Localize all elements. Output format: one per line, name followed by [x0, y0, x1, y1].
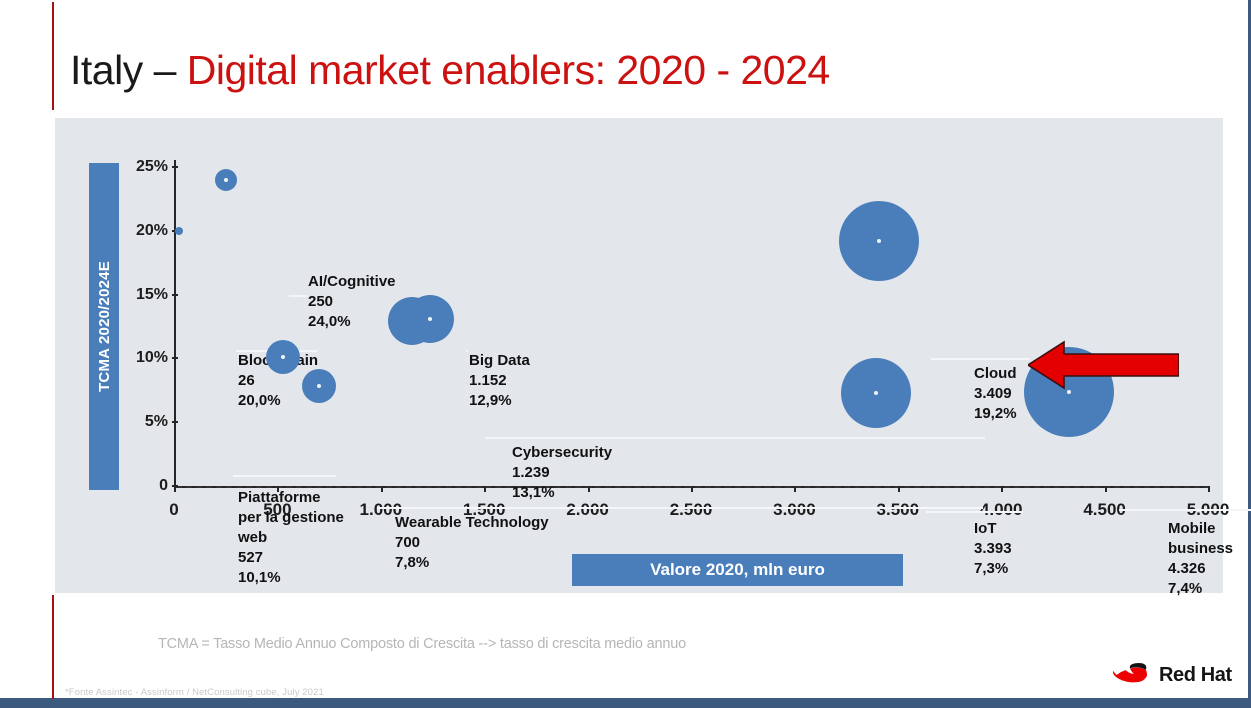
bubble-leader-line	[926, 511, 1023, 513]
tcma-definition-note: TCMA = Tasso Medio Annuo Composto di Cre…	[158, 636, 686, 652]
bubble-label: Big Data 1.152 12,9%	[469, 351, 530, 411]
y-tick-label: 20%	[122, 222, 168, 240]
y-axis-line	[174, 160, 176, 488]
bubble-label: AI/Cognitive 250 24,0%	[308, 272, 396, 332]
bubble-center-dot	[877, 239, 881, 243]
page-title: Italy – Digital market enablers: 2020 - …	[70, 44, 830, 96]
slide-canvas: Italy – Digital market enablers: 2020 - …	[0, 0, 1251, 708]
y-axis-title-bar: TCMA 2020/2024E	[89, 163, 119, 490]
x-tick-mark	[1208, 486, 1210, 492]
source-note: *Fonte Assintec - Assinform / NetConsult…	[65, 687, 324, 698]
bubble-center-dot	[874, 391, 878, 395]
y-tick-label: 5%	[122, 413, 168, 431]
bubble-leader-line	[931, 358, 1030, 360]
y-tick-label: 15%	[122, 286, 168, 304]
y-tick-label: 10%	[122, 349, 168, 367]
bubble-label: Mobile business 4.326 7,4%	[1168, 519, 1233, 599]
red-hat-logo: Red Hat	[1113, 658, 1233, 692]
bubble-center-dot	[224, 178, 228, 182]
bubble-label: Cloud 3.409 19,2%	[974, 364, 1017, 424]
x-tick-mark	[484, 486, 486, 492]
page-title-country: Italy –	[70, 47, 187, 93]
bubble-label: Wearable Technology 700 7,8%	[395, 513, 549, 573]
x-tick-mark	[794, 486, 796, 492]
bubble-leader-line	[485, 437, 985, 439]
x-axis-caption-bar: Valore 2020, mln euro	[572, 554, 903, 586]
y-tick-mark	[172, 166, 178, 168]
x-tick-mark	[1105, 486, 1107, 492]
y-tick-mark	[172, 421, 178, 423]
left-arrow-icon	[1028, 340, 1179, 390]
page-title-subject: Digital market enablers: 2020 - 2024	[187, 47, 830, 93]
bubble-leader-line	[1119, 509, 1251, 511]
x-tick-mark	[381, 486, 383, 492]
bubble-leader-line	[289, 295, 307, 297]
chart-panel: TCMA 2020/2024E 05%10%15%20%25% 05001.00…	[55, 118, 1223, 593]
x-tick-label: 2.500	[670, 500, 713, 520]
accent-rule-top	[52, 2, 54, 110]
red-hat-wordmark: Red Hat	[1159, 664, 1232, 687]
accent-rule-bottom	[52, 595, 54, 699]
x-tick-label: 3.000	[773, 500, 816, 520]
bubble-center-dot	[428, 317, 432, 321]
x-tick-mark	[691, 486, 693, 492]
y-tick-label: 0	[122, 477, 168, 495]
bubble-leader-line	[377, 507, 983, 509]
bubble-label: IoT 3.393 7,3%	[974, 519, 1012, 579]
bubble-label: Cybersecurity 1.239 13,1%	[512, 443, 612, 503]
red-hat-fedora-icon	[1113, 658, 1157, 688]
x-tick-label: 0	[169, 500, 178, 520]
bubble-blockchain[interactable]	[175, 227, 183, 235]
y-tick-mark	[172, 294, 178, 296]
bubble-center-dot	[281, 355, 285, 359]
x-tick-label: 3.500	[877, 500, 920, 520]
x-tick-mark	[174, 486, 176, 492]
x-tick-mark	[898, 486, 900, 492]
bubble-leader-line	[233, 475, 336, 477]
bubble-leader-line	[466, 350, 468, 352]
bubble-center-dot	[1067, 390, 1071, 394]
x-tick-label: 4.000	[980, 500, 1023, 520]
x-tick-mark	[1001, 486, 1003, 492]
y-tick-label: 25%	[122, 158, 168, 176]
y-tick-mark	[172, 357, 178, 359]
x-tick-label: 2.000	[566, 500, 609, 520]
x-axis-title: Valore 2020, mln euro	[650, 560, 825, 580]
slide-bottom-edge-band	[0, 698, 1251, 708]
bubble-label: Piattaforme per la gestione web 527 10,1…	[238, 488, 344, 588]
y-axis-title: TCMA 2020/2024E	[96, 261, 113, 392]
bubble-center-dot	[317, 384, 321, 388]
